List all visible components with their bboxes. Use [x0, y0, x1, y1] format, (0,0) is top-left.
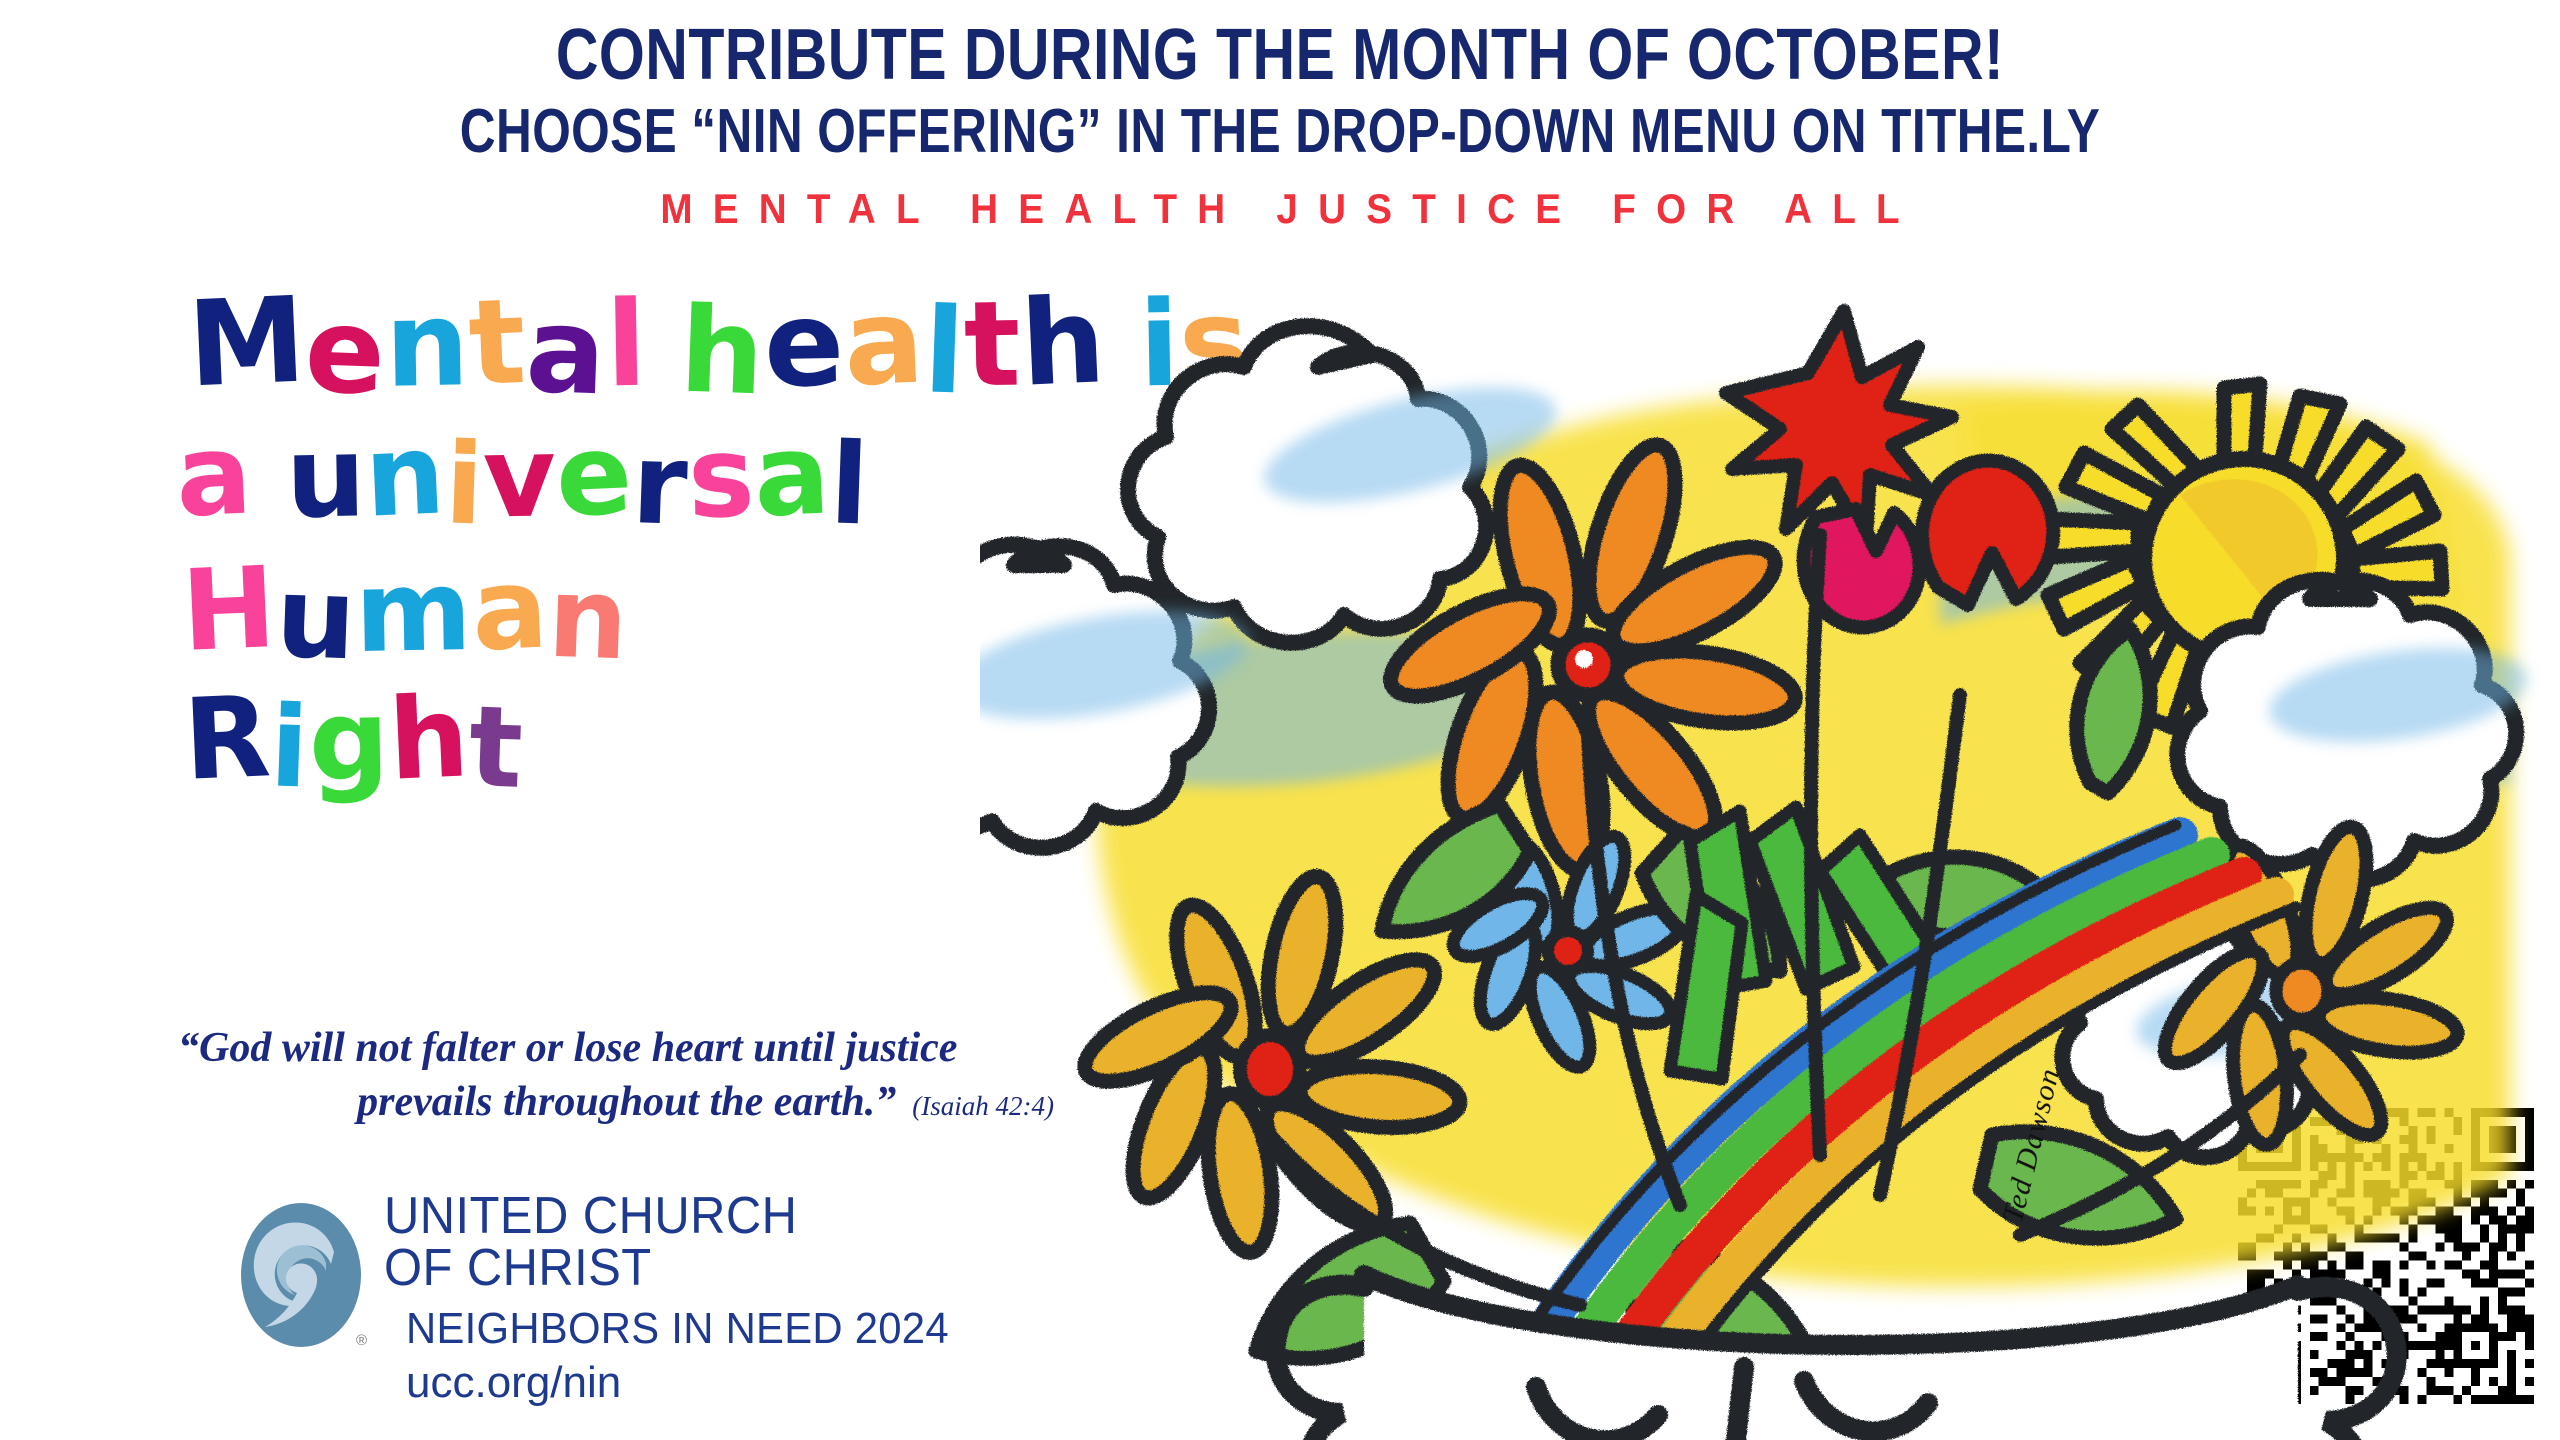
headline-letter: m	[355, 558, 474, 668]
headline-letter: e	[303, 294, 387, 410]
headline-letter: g	[308, 688, 390, 797]
head-vase	[1276, 1275, 2397, 1440]
scripture-quote: “God will not falter or lose heart until…	[178, 1022, 1058, 1130]
ucc-name-line-2: OF CHRIST	[384, 1242, 797, 1294]
headline-letter: t	[467, 285, 528, 401]
headline-letter: a	[752, 422, 832, 533]
ucc-wordmark: UNITED CHURCH OF CHRIST	[384, 1192, 824, 1294]
headline-letter: s	[687, 425, 756, 534]
ucc-comma-mark-icon	[238, 1200, 364, 1350]
header-line-contribute: CONTRIBUTE DURING THE MONTH OF OCTOBER!	[230, 14, 2329, 96]
poster-canvas: CONTRIBUTE DURING THE MONTH OF OCTOBER! …	[0, 0, 2560, 1440]
scripture-line-2-text: prevails throughout the earth.”	[357, 1079, 896, 1125]
headline-letter: u	[274, 564, 357, 674]
scripture-line-2: prevails throughout the earth.”(Isaiah 4…	[178, 1076, 1058, 1130]
program-name: NEIGHBORS IN NEED 2024	[406, 1304, 949, 1354]
headline-letter: r	[631, 431, 690, 540]
headline-letter: a	[174, 422, 254, 533]
headline-letter: h	[387, 685, 471, 796]
headline-letter: a	[470, 555, 550, 666]
headline-letter: H	[180, 555, 278, 667]
headline-letter: e	[554, 422, 635, 533]
headline-letter: a	[524, 294, 608, 410]
headline-letter: n	[363, 422, 447, 533]
headline-letter: R	[182, 684, 273, 795]
headline-letter: l	[828, 432, 870, 541]
headline-letter: e	[763, 287, 845, 402]
headline-letter: n	[384, 287, 470, 402]
ucc-logo-block: ® UNITED CHURCH OF CHRIST NEIGHBORS IN N…	[238, 1192, 878, 1422]
headline-letter: n	[546, 564, 629, 674]
registered-trademark-icon: ®	[356, 1332, 367, 1349]
headline-letter: v	[483, 425, 558, 534]
headline-letter: M	[186, 283, 308, 401]
program-url[interactable]: ucc.org/nin	[406, 1358, 621, 1408]
header-line-choose-offering: CHOOSE “NIN OFFERING” IN THE DROP-DOWN M…	[256, 96, 2304, 167]
headline-letter: a	[842, 284, 927, 401]
headline-letter: t	[467, 694, 524, 803]
scripture-line-1: “God will not falter or lose heart until…	[178, 1022, 1058, 1076]
headline-letter: i	[443, 432, 485, 541]
flower-bouquet-illustration	[980, 195, 2540, 1440]
headline-letter: i	[268, 695, 310, 804]
headline-letter: l	[922, 294, 966, 409]
headline-letter: h	[678, 294, 766, 410]
ucc-name-line-1: UNITED CHURCH	[384, 1192, 797, 1242]
headline-letter: l	[605, 288, 647, 402]
headline-letter: u	[285, 425, 367, 534]
